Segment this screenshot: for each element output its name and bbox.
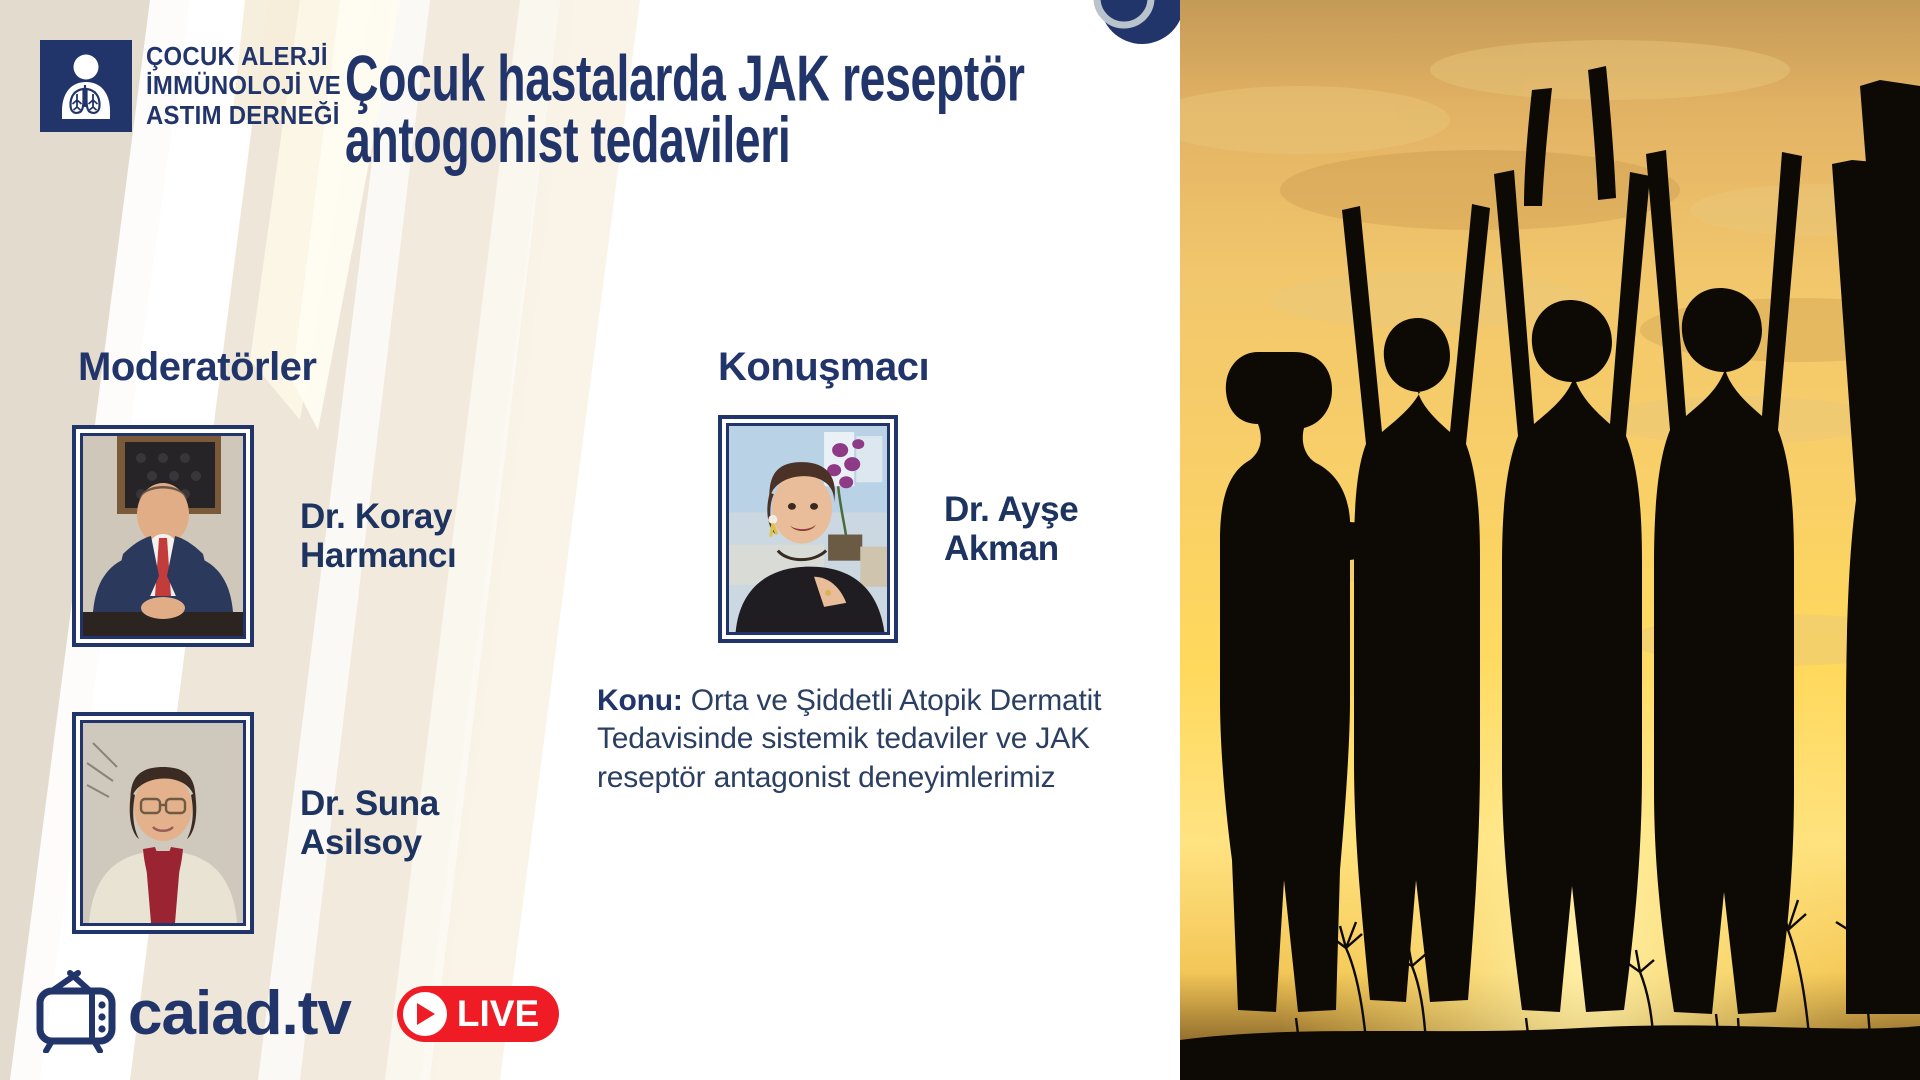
person-lungs-icon	[40, 40, 132, 132]
moderators-heading: Moderatörler	[78, 345, 317, 390]
speaker-heading: Konuşmacı	[718, 345, 929, 390]
topic-label: Konu:	[597, 684, 683, 717]
logo-line-3: ASTIM DERNEĞİ	[146, 101, 341, 130]
moderator-name: Dr. Suna Asilsoy	[300, 784, 439, 862]
photo-frame	[72, 425, 254, 647]
hero-image: 22.01.2025 Çarşamba 20.00-21.00	[1180, 0, 1920, 1080]
avatar	[83, 723, 243, 923]
photo-frame-inner	[80, 720, 246, 926]
association-logo-text: ÇOCUK ALERJİ İMMÜNOLOJİ VE ASTIM DERNEĞİ	[146, 42, 341, 129]
avatar	[83, 436, 243, 636]
photo-frame	[718, 415, 898, 643]
brand-name: caiad.tv	[128, 983, 351, 1045]
speaker-name: Dr. Ayşe Akman	[944, 490, 1078, 568]
moderator-name: Dr. Koray Harmancı	[300, 497, 456, 575]
children-silhouette-illustration	[1180, 0, 1920, 1080]
logo-line-2: İMMÜNOLOJİ VE	[146, 71, 341, 100]
logo-line-1: ÇOCUK ALERJİ	[146, 42, 341, 71]
brand-bar: caiad.tv LIVE	[34, 969, 559, 1058]
moderator-card-suna-asilsoy: Dr. Suna Asilsoy	[72, 712, 439, 934]
play-icon	[403, 992, 447, 1036]
info-panel: ÇOCUK ALERJİ İMMÜNOLOJİ VE ASTIM DERNEĞİ…	[0, 0, 1180, 1080]
live-label: LIVE	[457, 995, 539, 1032]
television-icon	[34, 969, 130, 1058]
topic-text: Konu: Orta ve Şiddetli Atopik Dermatit T…	[597, 682, 1180, 797]
association-logo: ÇOCUK ALERJİ İMMÜNOLOJİ VE ASTIM DERNEĞİ	[40, 40, 358, 132]
page-title: Çocuk hastalarda JAK reseptör antogonist…	[345, 48, 1145, 171]
avatar	[729, 426, 887, 632]
live-badge[interactable]: LIVE	[397, 986, 559, 1042]
speaker-card-ayse-akman: Dr. Ayşe Akman	[718, 415, 1078, 643]
photo-frame-inner	[726, 423, 890, 635]
photo-frame-inner	[80, 433, 246, 639]
moderator-card-koray-harmanci: Dr. Koray Harmancı	[72, 425, 456, 647]
photo-frame	[72, 712, 254, 934]
webinar-poster: ÇOCUK ALERJİ İMMÜNOLOJİ VE ASTIM DERNEĞİ…	[0, 0, 1920, 1080]
